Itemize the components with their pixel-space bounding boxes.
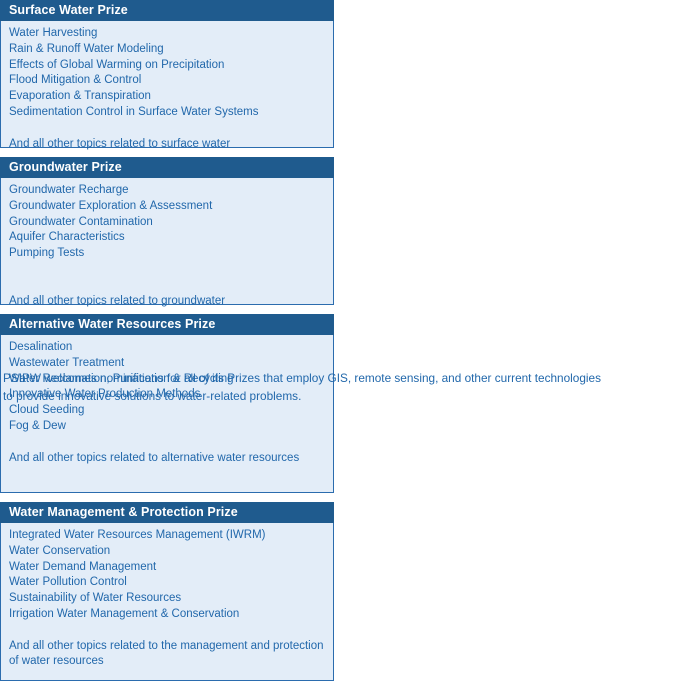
prize-panel-body: Groundwater Recharge Groundwater Explora… [0, 178, 334, 305]
topic-item: Groundwater Exploration & Assessment [9, 199, 325, 215]
prize-panel-title: Water Management & Protection Prize [0, 502, 334, 523]
topic-item: Aquifer Characteristics [9, 230, 325, 246]
topic-item: Rain & Runoff Water Modeling [9, 42, 325, 58]
prize-panel-groundwater: Groundwater Prize Groundwater Recharge G… [0, 157, 334, 305]
sheet-footer: PSIPW welcomes nominations for all of it… [0, 370, 678, 405]
topic-item: Flood Mitigation & Control [9, 73, 325, 89]
topic-item: Groundwater Contamination [9, 215, 325, 231]
topic-item: Evaporation & Transpiration [9, 89, 325, 105]
topic-list: Water Harvesting Rain & Runoff Water Mod… [9, 26, 325, 121]
topic-item: Sustainability of Water Resources [9, 591, 325, 607]
panel-footnote: And all other topics related to groundwa… [9, 294, 325, 310]
prize-panel-body: Integrated Water Resources Management (I… [0, 523, 334, 681]
panel-footnote: And all other topics related to alternat… [9, 451, 325, 467]
topic-item: Water Conservation [9, 544, 325, 560]
prize-panel-title: Surface Water Prize [0, 0, 334, 21]
prize-panel-surface-water: Surface Water Prize Water Harvesting Rai… [0, 0, 334, 148]
topic-item: Desalination [9, 340, 325, 356]
prize-topics-sheet: Surface Water Prize Water Harvesting Rai… [0, 0, 678, 413]
topic-item: Pumping Tests [9, 246, 325, 262]
topic-item: Water Pollution Control [9, 575, 325, 591]
prize-panel-title: Alternative Water Resources Prize [0, 314, 334, 335]
topic-item: Irrigation Water Management & Conservati… [9, 607, 325, 623]
topic-item: Water Harvesting [9, 26, 325, 42]
topic-item: Integrated Water Resources Management (I… [9, 528, 325, 544]
prize-panel-grid: Surface Water Prize Water Harvesting Rai… [0, 0, 678, 681]
topic-item: Fog & Dew [9, 419, 325, 435]
topic-item: Effects of Global Warming on Precipitati… [9, 58, 325, 74]
topic-list: Integrated Water Resources Management (I… [9, 528, 325, 623]
topic-item: Sedimentation Control in Surface Water S… [9, 105, 325, 121]
topic-item: Groundwater Recharge [9, 183, 325, 199]
prize-panel-water-management-protection: Water Management & Protection Prize Inte… [0, 502, 334, 681]
topic-item: Cloud Seeding [9, 403, 325, 419]
prize-panel-body: Water Harvesting Rain & Runoff Water Mod… [0, 21, 334, 148]
prize-panel-body: Desalination Wastewater Treatment Water … [0, 335, 334, 493]
prize-panel-title: Groundwater Prize [0, 157, 334, 178]
topic-list: Groundwater Recharge Groundwater Explora… [9, 183, 325, 262]
panel-footnote: And all other topics related to the mana… [9, 639, 325, 671]
panel-footnote: And all other topics related to surface … [9, 137, 325, 153]
footer-line-2: to provide innovative solutions to water… [3, 388, 674, 406]
topic-item: Water Demand Management [9, 560, 325, 576]
footer-line-1: PSIPW welcomes nominations for all of it… [3, 370, 674, 388]
